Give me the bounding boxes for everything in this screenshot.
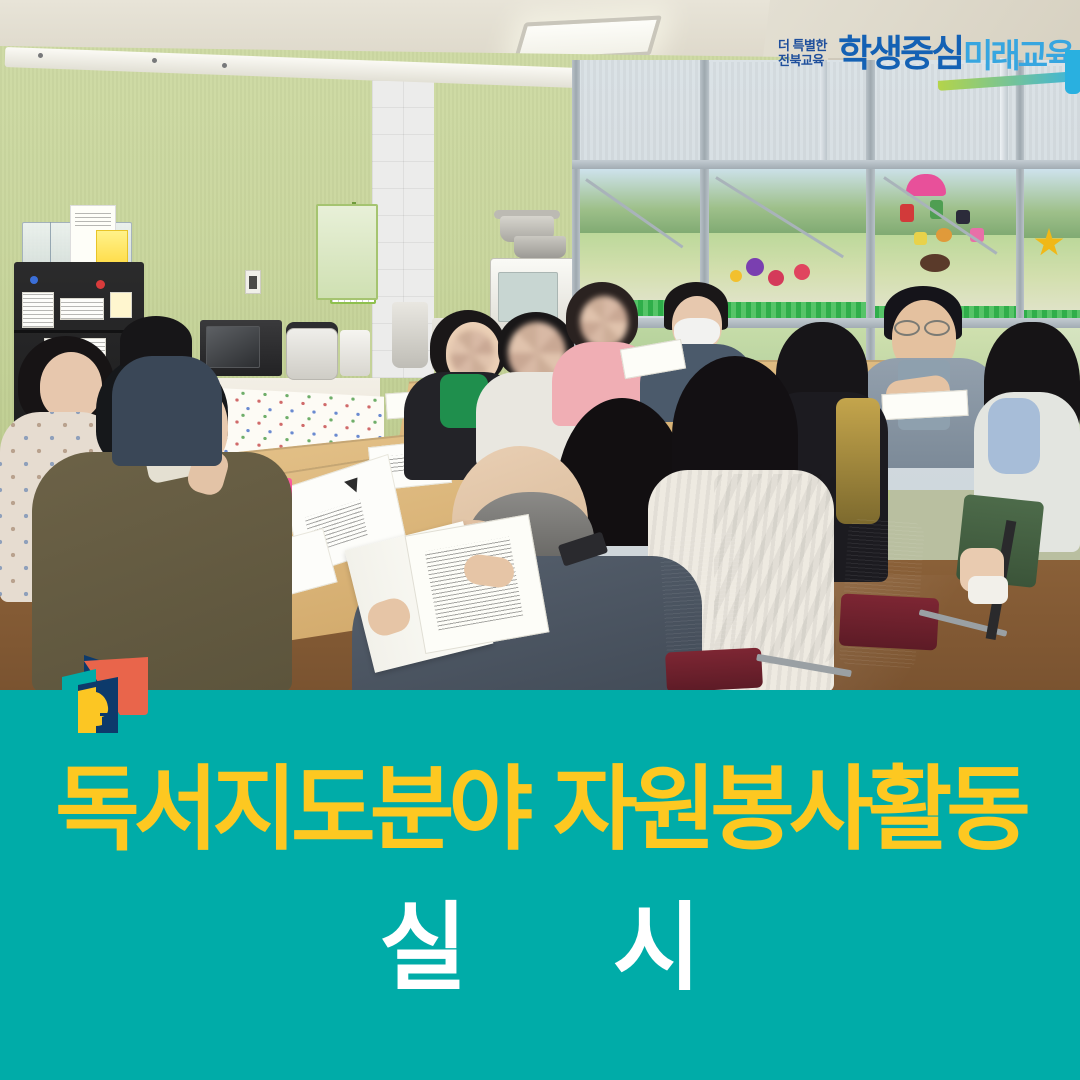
raglan-sleeve (988, 398, 1040, 474)
flower-decal (794, 264, 810, 280)
office-chair-seat[interactable] (665, 648, 763, 692)
fridge-magnet (96, 280, 105, 289)
fridge-sticker (110, 292, 132, 318)
hillside-view (1022, 168, 1080, 241)
face-decal (936, 228, 952, 242)
cooking-pot-small (514, 236, 566, 258)
window-blind[interactable] (575, 60, 703, 168)
rail-screw (38, 53, 43, 58)
fridge-notice (60, 298, 104, 320)
eyeglasses (924, 320, 950, 336)
wall-outlet-socket (249, 276, 257, 289)
blender (392, 302, 428, 368)
green-wall-box (316, 204, 378, 300)
electric-kettle (340, 330, 370, 376)
flower-decal (746, 258, 764, 276)
logo-small-line2: 전북교육 (778, 53, 827, 68)
hillside-view (874, 166, 1020, 238)
book-decal (956, 210, 970, 224)
reading-book-face-logo (62, 655, 150, 733)
microwave-door (206, 326, 260, 368)
eyeglasses (894, 320, 920, 336)
rice-cooker (286, 328, 338, 380)
window-grass-decal (706, 302, 868, 318)
rail-screw (152, 58, 157, 63)
logo-main-text: 학생중심 (838, 32, 962, 76)
flower-decal (730, 270, 742, 282)
banner-title-line2: 실 시 (0, 898, 1080, 998)
banner-title-line1: 독서지도분야 자원봉사활동 (0, 762, 1080, 858)
logo-svg (62, 655, 150, 733)
title-banner: 독서지도분야 자원봉사활동 실 시 (0, 690, 1080, 1080)
hillside-view (578, 168, 700, 236)
fridge-magnet (30, 276, 38, 284)
logo-face-mouth (100, 713, 109, 716)
logo-tail-bar (1065, 50, 1080, 94)
window-mullion (572, 160, 1080, 169)
logo-small-line1: 더 특별한 (778, 38, 827, 53)
window-pane (1022, 168, 1080, 326)
hillside-view (706, 166, 868, 236)
jeonbuk-education-logo: 더 특별한 전북교육 학생중심 미래교육 (778, 34, 1078, 92)
logo-mirae-text: 미래교육 (963, 36, 1072, 76)
book-decal (914, 232, 927, 245)
rack-divider (50, 222, 51, 266)
patterned-scarf (836, 398, 880, 524)
flower-decal (768, 270, 784, 286)
rail-screw (222, 63, 227, 68)
sock (968, 576, 1008, 604)
event-photo: 더 특별한 전북교육 학생중심 미래교육 (0, 0, 1080, 692)
promo-card: 더 특별한 전북교육 학생중심 미래교육 독서지도분야 자원봉사활동 실 (0, 0, 1080, 1080)
logo-small-text: 더 특별한 전북교육 (778, 38, 827, 68)
book-decal (900, 204, 914, 222)
fridge-notice (22, 292, 54, 328)
hat-decal (920, 254, 950, 272)
office-chair-seat[interactable] (839, 593, 940, 650)
open-book (881, 390, 968, 420)
